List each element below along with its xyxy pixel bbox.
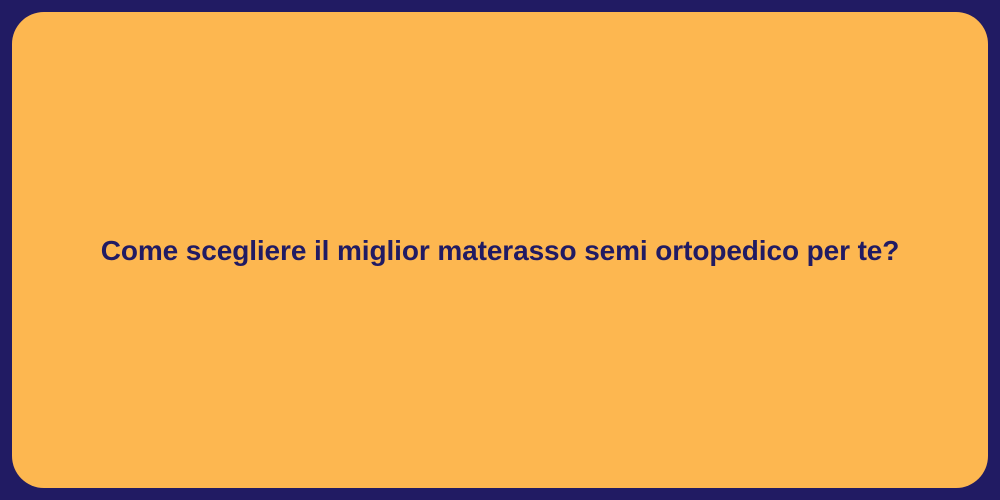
article-banner: Come scegliere il miglior materasso semi… [0,0,1000,500]
banner-card: Come scegliere il miglior materasso semi… [12,12,988,488]
banner-headline: Come scegliere il miglior materasso semi… [61,233,940,268]
